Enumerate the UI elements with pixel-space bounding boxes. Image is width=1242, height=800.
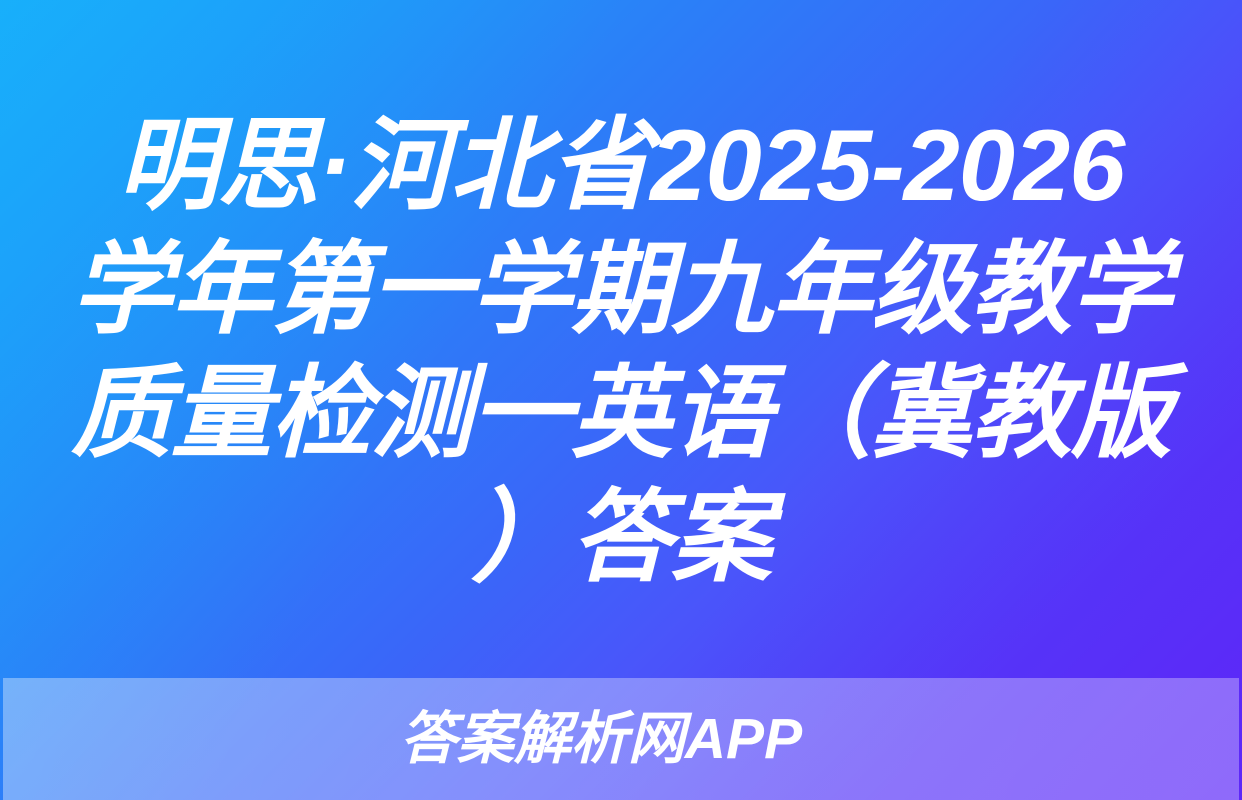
page-title: 明思·河北省2025-2026 学年第一学期九年级教学 质量检测一英语（冀教版 … — [0, 104, 1242, 600]
title-line-3: 质量检测一英语（冀教版 — [36, 352, 1206, 476]
watermark-text: 答案解析网APP — [400, 711, 802, 768]
title-line-2: 学年第一学期九年级教学 — [36, 228, 1206, 352]
answer-cover-card: 明思·河北省2025-2026 学年第一学期九年级教学 质量检测一英语（冀教版 … — [0, 0, 1242, 800]
watermark-band: 答案解析网APP — [3, 678, 1239, 800]
title-line-4: ）答案 — [36, 476, 1206, 600]
title-line-1: 明思·河北省2025-2026 — [36, 104, 1206, 228]
